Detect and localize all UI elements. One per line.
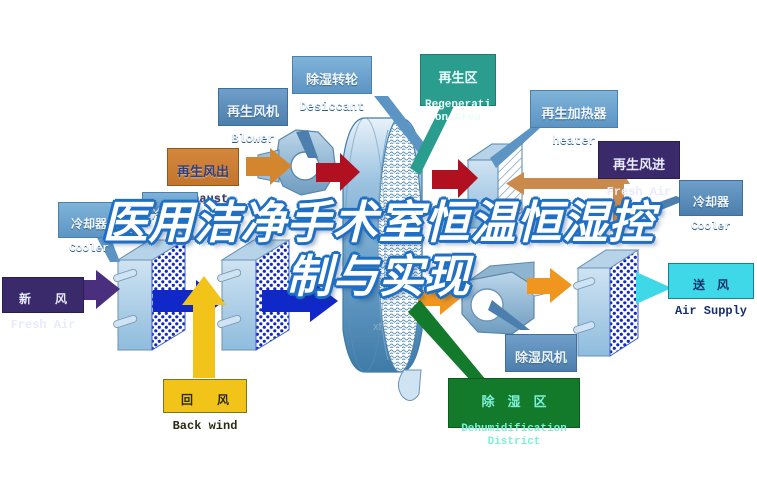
dehumidification-blower	[462, 262, 556, 334]
label-dehumidification-district-en: Dehumidification District	[449, 423, 579, 448]
label-exhaust-cn: 再生风出	[168, 165, 238, 179]
label-exhaust: 再生风出 Exhaust	[167, 148, 239, 186]
label-back-wind: 回 风 Back wind	[163, 379, 247, 413]
label-cooler-right-en: Cooler	[680, 222, 742, 234]
label-cooler-right-cn: 冷却器	[680, 196, 742, 209]
label-regeneration-area-cn: 再生区	[421, 71, 495, 85]
label-air-supply-en: Air Supply	[669, 305, 753, 318]
label-back-wind-en: Back wind	[164, 420, 246, 433]
label-cooler-left-2-cn: 冷却器	[143, 208, 197, 221]
svg-text:xt: xt	[373, 321, 382, 333]
desiccant-wheel: xt	[343, 118, 422, 401]
label-fresh-air-inlet-en: Fresh Air	[3, 319, 83, 332]
label-back-wind-cn: 回 风	[164, 394, 246, 407]
label-regeneration-fresh-air: 再生风进 Fresh Air	[598, 141, 680, 179]
label-regeneration-heater: 再生加热器 heater	[530, 90, 618, 128]
label-cooler-left-cn: 冷却器	[59, 218, 119, 231]
label-dehumidification-blower-cn: 除湿风机	[506, 351, 576, 365]
label-cooler-left-2: 冷却器	[142, 192, 198, 214]
label-regeneration-blower-en: Blower	[219, 133, 287, 146]
label-fresh-air-inlet: 新 风 Fresh Air	[2, 277, 84, 313]
label-desiccant-wheel-en: Desiccant	[293, 101, 371, 114]
label-regeneration-area: 再生区 Regenerati on Area	[420, 54, 496, 106]
label-dehumidification-district: 除 湿 区 Dehumidification District	[448, 378, 580, 428]
supply-arrow	[636, 272, 672, 304]
label-regeneration-fresh-air-cn: 再生风进	[599, 158, 679, 172]
label-regeneration-heater-cn: 再生加热器	[531, 107, 617, 121]
label-cooler-left: 冷却器 Cooler	[58, 202, 120, 238]
label-regeneration-blower-cn: 再生风机	[219, 105, 287, 119]
label-fresh-air-inlet-cn: 新 风	[3, 293, 83, 306]
label-air-supply: 送 风 Air Supply	[668, 263, 754, 299]
label-air-supply-cn: 送 风	[669, 279, 753, 292]
label-regeneration-blower: 再生风机 Blower	[218, 88, 288, 126]
label-dehumidification-district-cn: 除 湿 区	[449, 395, 579, 409]
label-cooler-left-en: Cooler	[59, 244, 119, 256]
label-regeneration-fresh-air-en: Fresh Air	[599, 186, 679, 199]
diagram-canvas: xt	[0, 0, 757, 488]
label-regeneration-area-en: Regenerati on Area	[421, 99, 495, 124]
label-dehumidification-blower: 除湿风机 Blower	[505, 334, 577, 372]
label-desiccant-wheel: 除湿转轮 Desiccant	[292, 56, 372, 94]
label-desiccant-wheel-cn: 除湿转轮	[293, 73, 371, 87]
supply-filter-coil	[573, 250, 638, 356]
label-cooler-right: 冷却器 Cooler	[679, 180, 743, 216]
